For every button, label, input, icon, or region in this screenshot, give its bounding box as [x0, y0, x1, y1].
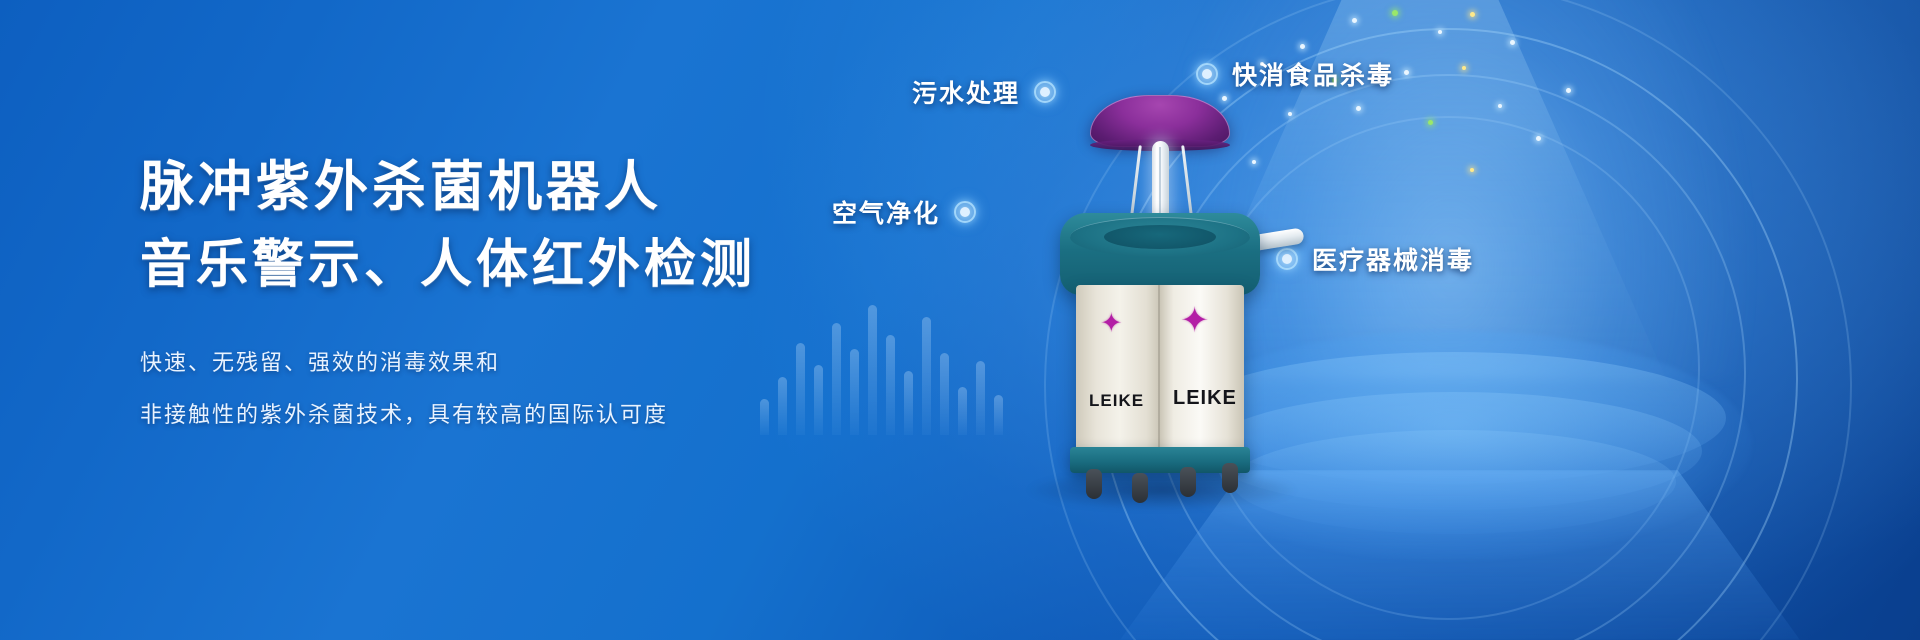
callout-marker-icon [1196, 63, 1218, 85]
hero-banner: 脉冲紫外杀菌机器人 音乐警示、人体红外检测 快速、无残留、强效的消毒效果和 非接… [0, 0, 1920, 640]
sparkle-logo-icon: ✦ [1180, 303, 1209, 338]
brand-wordmark-left: LEIKE [1089, 391, 1144, 411]
sparkle [1288, 112, 1292, 116]
sparkle [1462, 66, 1466, 70]
sparkle [1566, 88, 1571, 93]
callout-label: 快消食品杀毒 [1232, 56, 1394, 92]
sparkle [1438, 30, 1442, 34]
callout-marker-icon [954, 201, 976, 223]
brand-wordmark-right: LEIKE [1173, 387, 1237, 410]
sparkle-logo-icon: ✦ [1100, 310, 1123, 337]
caster-wheel [1086, 469, 1102, 499]
sparkle [1470, 12, 1475, 17]
sparkle [1536, 136, 1541, 141]
sparkle [1510, 40, 1515, 45]
sparkle [1356, 106, 1361, 111]
sparkle [1428, 120, 1433, 125]
sparkle [1470, 168, 1474, 172]
callout-fast-moving-food-sterilization: 快消食品杀毒 [1196, 56, 1394, 92]
device-top-well [1104, 225, 1216, 249]
callout-air-purification: 空气净化 [832, 194, 976, 230]
caster-wheel [1132, 473, 1148, 503]
platform-disc-3 [1232, 430, 1676, 534]
sparkle [1300, 44, 1305, 49]
page-title: 脉冲紫外杀菌机器人 [140, 150, 900, 224]
callout-label: 医疗器械消毒 [1312, 241, 1474, 277]
caster-wheel [1180, 467, 1196, 497]
sparkle [1352, 18, 1357, 23]
uv-disinfection-robot: ✦ ✦ LEIKE LEIKE [1040, 95, 1280, 490]
callout-label: 空气净化 [832, 194, 940, 230]
callout-label: 污水处理 [912, 74, 1020, 110]
callout-waste-water-treatment: 污水处理 [912, 74, 1056, 110]
callout-medical-device-disinfection: 医疗器械消毒 [1276, 241, 1474, 277]
description-block: 快速、无残留、强效的消毒效果和 非接触性的紫外杀菌技术，具有较高的国际认可度 [140, 348, 900, 430]
device-body-edge [1158, 285, 1160, 453]
description-line-1: 快速、无残留、强效的消毒效果和 [140, 348, 900, 378]
sparkle [1404, 70, 1409, 75]
page-subtitle: 音乐警示、人体红外检测 [140, 228, 900, 304]
banner-copy: 脉冲紫外杀菌机器人 音乐警示、人体红外检测 快速、无残留、强效的消毒效果和 非接… [140, 150, 900, 452]
description-line-2: 非接触性的紫外杀菌技术，具有较高的国际认可度 [140, 400, 900, 430]
caster-wheel [1222, 463, 1238, 493]
sparkle [1392, 10, 1398, 16]
sparkle [1498, 104, 1502, 108]
